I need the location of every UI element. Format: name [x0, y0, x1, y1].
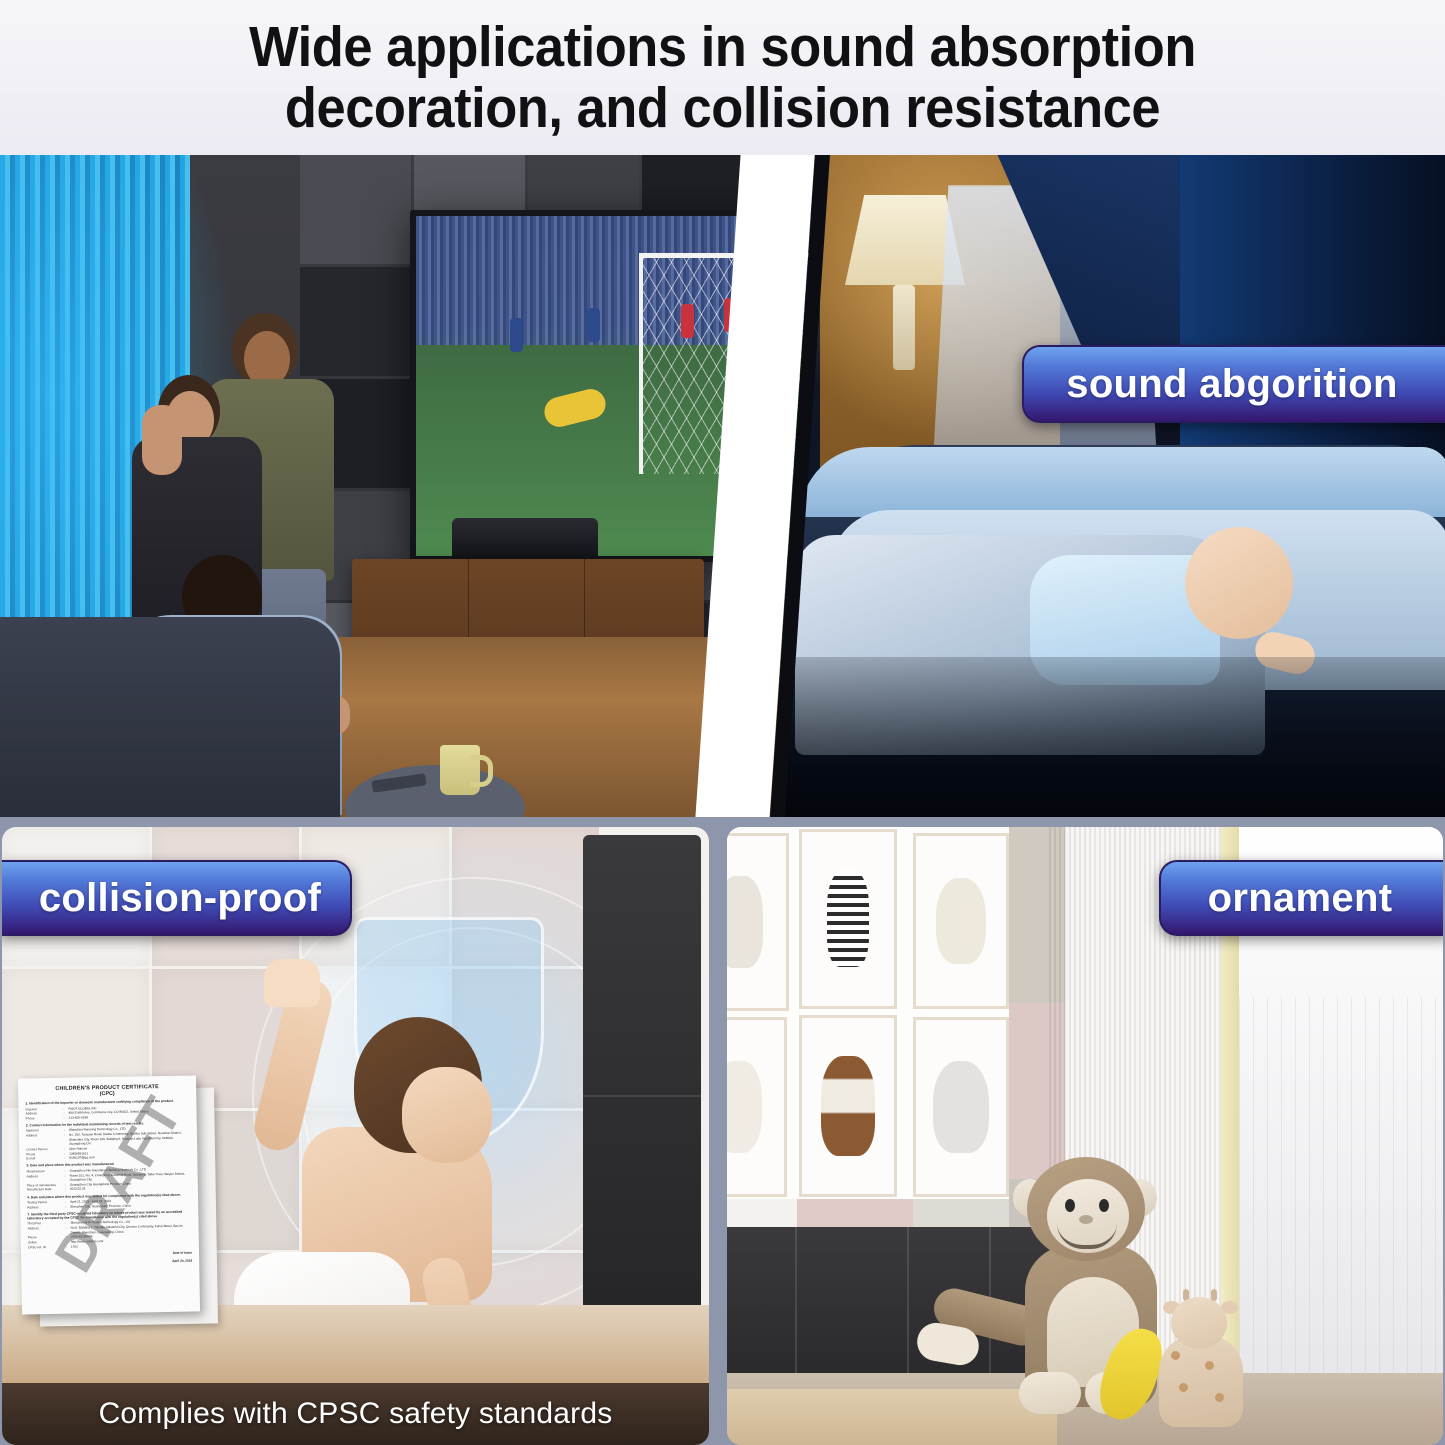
brown-bear-illustration: [821, 1056, 875, 1156]
cpc-certificate: CHILDREN'S PRODUCT CERTIFICATE (CPC) 1. …: [18, 1075, 200, 1314]
giraffe-spot: [1171, 1351, 1180, 1360]
dark-acoustic-panel: [583, 835, 701, 1355]
person-arm-fist: [142, 405, 182, 475]
badge-sound-label: sound abgorition: [1066, 362, 1397, 407]
cpsc-caption: Complies with CPSC safety standards: [99, 1397, 613, 1431]
certificate-issue-label: Date of Issue: [28, 1251, 192, 1258]
monkey-foot: [1019, 1372, 1081, 1414]
owl-illustration: [936, 878, 986, 964]
panel-seam: [907, 1227, 909, 1377]
badge-ornament-label: ornament: [1208, 876, 1393, 921]
badge-collision-label: collision-proof: [39, 876, 321, 921]
area-rug: [727, 1389, 1057, 1445]
acoustic-panel: [300, 155, 411, 264]
giraffe-spot: [1205, 1361, 1214, 1370]
acoustic-panel: [300, 267, 411, 376]
laser-projector: [452, 518, 598, 562]
panel-grid: sound abgorition CHILDREN'S P: [0, 155, 1445, 1445]
bottom-row: CHILDREN'S PRODUCT CERTIFICATE (CPC) 1. …: [0, 827, 1445, 1445]
page-title: Wide applications in sound absorption de…: [58, 17, 1387, 139]
badge-collision-proof[interactable]: collision-proof: [2, 860, 352, 936]
sofa: [0, 617, 340, 817]
shadow-vignette: [780, 657, 1445, 817]
art-frame-rabbit: [727, 833, 789, 1011]
art-frame-brownbear: [799, 1015, 897, 1197]
panel-seam: [795, 1227, 797, 1377]
player-1: [681, 304, 694, 338]
coffee-mug: [440, 745, 480, 795]
raccoon-illustration: [827, 871, 869, 967]
art-frame-raccoon: [799, 829, 897, 1009]
photo-collision-proof: CHILDREN'S PRODUCT CERTIFICATE (CPC) 1. …: [2, 827, 709, 1445]
polar-bear-illustration: [727, 1061, 762, 1153]
elephant-illustration: [933, 1061, 989, 1153]
baby-face: [402, 1067, 492, 1163]
giraffe-spot: [1179, 1383, 1188, 1392]
crib-rail: [800, 447, 1445, 517]
art-frame-elephant: [913, 1017, 1009, 1197]
baby-hand: [264, 959, 320, 1007]
player-4: [510, 318, 523, 352]
art-frame-polarbear: [727, 1017, 787, 1197]
certificate-issue-date: April 24, 2023: [28, 1259, 192, 1266]
badge-sound-absorption[interactable]: sound abgorition: [1022, 345, 1445, 423]
player-5: [587, 308, 600, 342]
header-banner: Wide applications in sound absorption de…: [0, 0, 1445, 155]
badge-ornament[interactable]: ornament: [1159, 860, 1443, 936]
monkey-eye: [1099, 1199, 1109, 1212]
lamp-stem: [893, 285, 915, 370]
sleeping-baby-head: [1185, 527, 1293, 639]
rabbit-illustration: [727, 876, 763, 968]
caption-bar: Complies with CPSC safety standards: [2, 1383, 709, 1445]
giraffe-head: [1171, 1297, 1227, 1349]
art-frame-owl: [913, 833, 1009, 1009]
giraffe-spot: [1215, 1393, 1224, 1402]
photo-ornament-nursery: ornament: [727, 827, 1443, 1445]
monkey-eye: [1065, 1199, 1075, 1212]
top-row: sound abgorition: [0, 155, 1445, 817]
